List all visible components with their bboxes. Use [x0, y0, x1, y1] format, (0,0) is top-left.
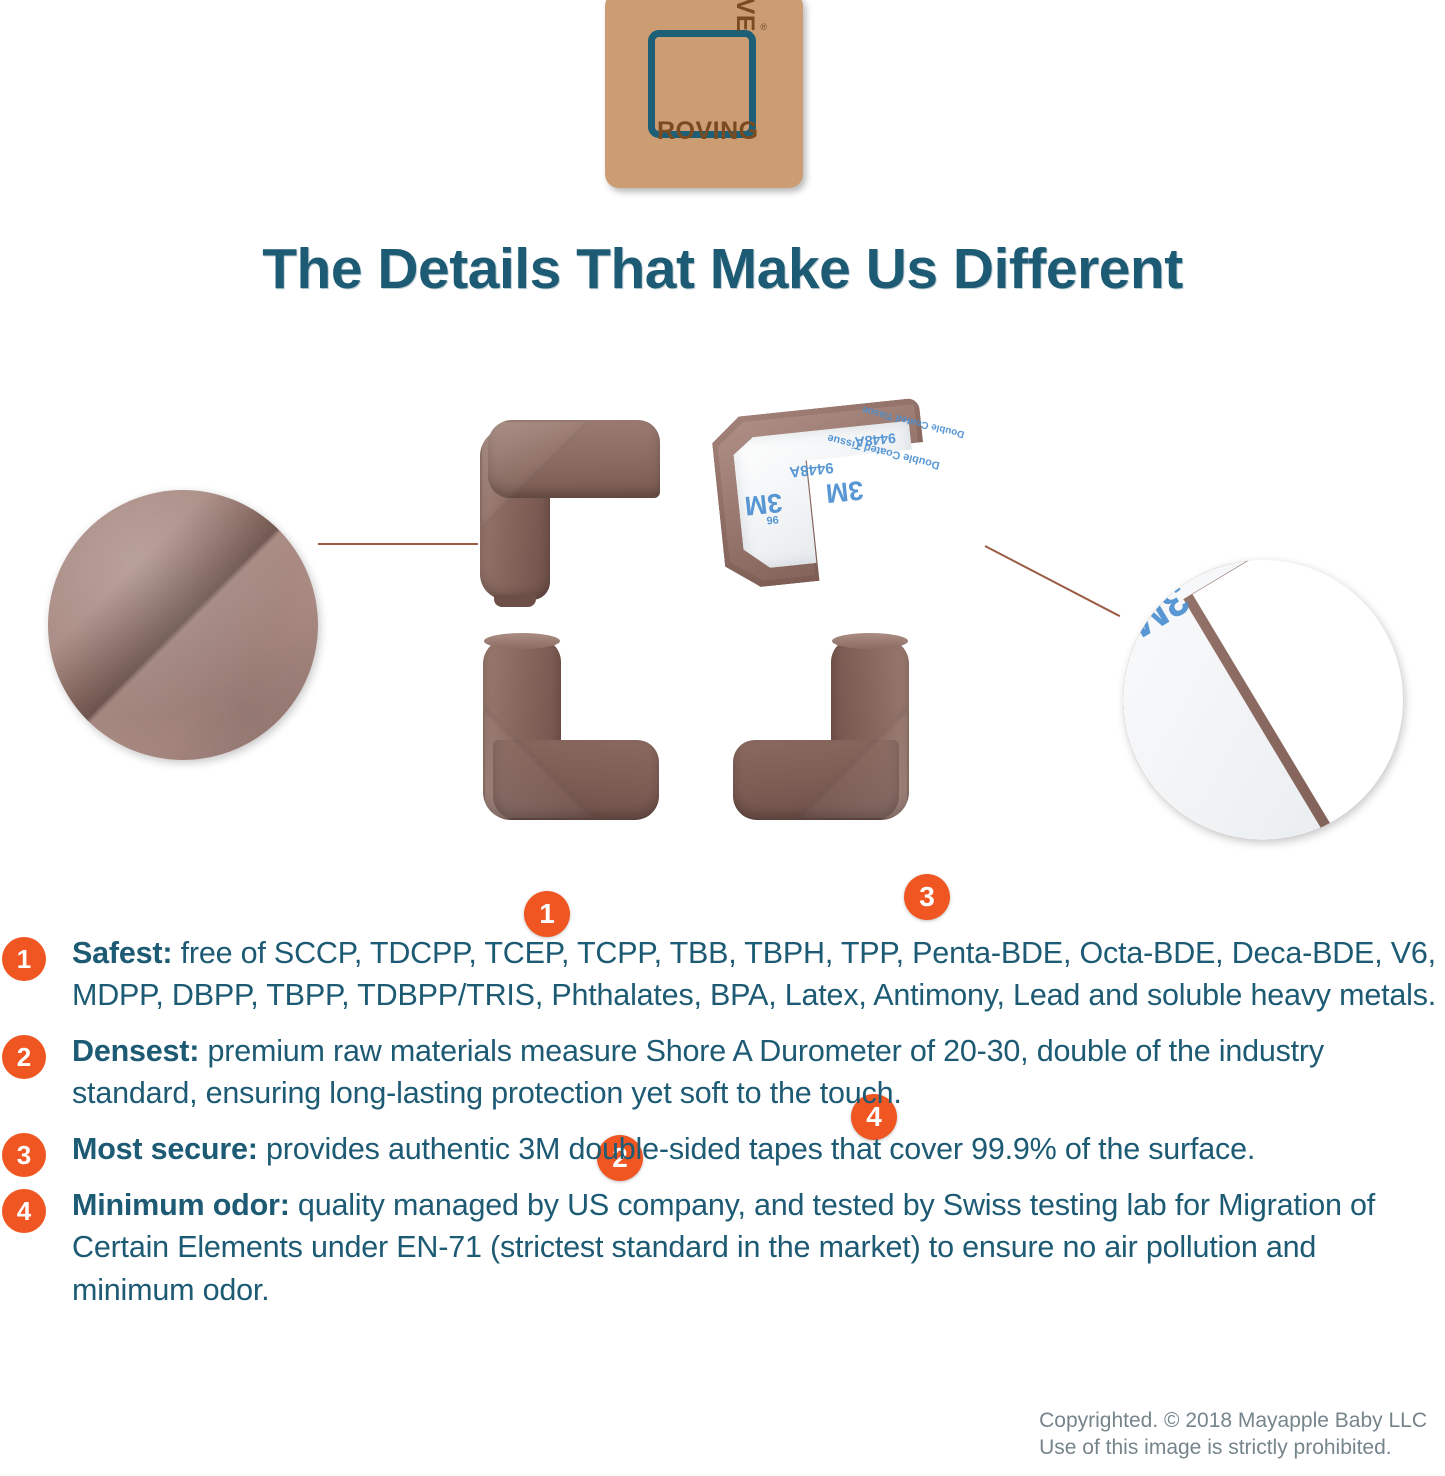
feature-text-1: Safest: free of SCCP, TDCPP, TCEP, TCPP,…	[72, 932, 1445, 1016]
foam-density-closeup-image	[48, 490, 318, 760]
callout-badge-1: 1	[524, 891, 570, 937]
callout-badge-3: 3	[904, 874, 950, 920]
feature-badge-2: 2	[2, 1035, 46, 1079]
tape-brand-label-2: 3M	[824, 474, 865, 509]
feature-item-most-secure: 3 Most secure: provides authentic 3M dou…	[0, 1128, 1445, 1170]
copyright-notice: Copyrighted. © 2018 Mayapple Baby LLC Us…	[1039, 1407, 1427, 1462]
feature-text-4: Minimum odor: quality managed by US comp…	[72, 1184, 1445, 1310]
3m-tape-surface: 3M 3M 9448A 9448A Double Coated Tissue D…	[710, 397, 937, 590]
feature-item-densest: 2 Densest: premium raw materials measure…	[0, 1030, 1445, 1114]
page-title: The Details That Make Us Different	[0, 236, 1445, 302]
feature-badge-3: 3	[2, 1133, 46, 1177]
logo-word-roving: ROVING	[657, 119, 759, 144]
feature-list: 1 Safest: free of SCCP, TDCPP, TCEP, TCP…	[0, 932, 1445, 1325]
leader-line-left	[318, 543, 478, 545]
feature-badge-1: 1	[2, 937, 46, 981]
foam-corner-guard-left	[483, 638, 659, 820]
foam-corner-guard-right	[733, 638, 909, 820]
copyright-line-2: Use of this image is strictly prohibited…	[1039, 1434, 1427, 1462]
logo-word-cove: COVE	[732, 0, 757, 32]
feature-lead-3: Most secure:	[72, 1132, 258, 1166]
leader-line-right	[985, 545, 1121, 617]
product-showcase: 3M 3M 9448A 9448A Double Coated Tissue D…	[0, 380, 1445, 900]
feature-body-2: premium raw materials measure Shore A Du…	[72, 1034, 1324, 1110]
feature-lead-1: Safest:	[72, 936, 172, 970]
feature-text-2: Densest: premium raw materials measure S…	[72, 1030, 1445, 1114]
foam-corner-guard-front	[480, 420, 660, 600]
feature-item-minimum-odor: 4 Minimum odor: quality managed by US co…	[0, 1184, 1445, 1310]
feature-lead-2: Densest:	[72, 1034, 199, 1068]
feature-body-1: free of SCCP, TDCPP, TCEP, TCPP, TBB, TB…	[72, 936, 1436, 1012]
tape-small-code: 96	[766, 513, 779, 526]
feature-lead-4: Minimum odor:	[72, 1188, 290, 1222]
feature-badge-4: 4	[2, 1189, 46, 1233]
feature-text-3: Most secure: provides authentic 3M doubl…	[72, 1128, 1445, 1170]
brand-logo: ROVING COVE ®	[605, 0, 803, 188]
copyright-line-1: Copyrighted. © 2018 Mayapple Baby LLC	[1039, 1407, 1427, 1435]
feature-item-safest: 1 Safest: free of SCCP, TDCPP, TCEP, TCP…	[0, 932, 1445, 1016]
3m-tape-closeup-image: 3M 3M 9448A 9448A Double Coated Tissue D…	[1123, 560, 1403, 840]
registered-trademark-icon: ®	[760, 22, 767, 32]
foam-corner-guard-taped: 3M 3M 9448A 9448A Double Coated Tissue D…	[710, 397, 937, 590]
feature-body-3: provides authentic 3M double-sided tapes…	[258, 1132, 1255, 1166]
